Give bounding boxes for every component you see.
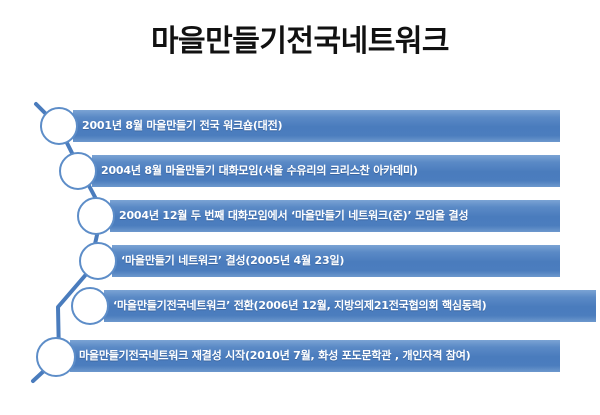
timeline-item-3[interactable]: 2004년 12월 두 번째 대화모임에서 ‘마을만들기 네트워크(준)’ 모임… (0, 200, 600, 232)
timeline-node-3[interactable] (77, 197, 115, 235)
timeline-node-4[interactable] (79, 242, 117, 280)
timeline-item-5[interactable]: ‘마을만들기전국네트워크’ 전환(2006년 12월, 지방의제21전국협의회 … (0, 290, 600, 322)
timeline-node-1[interactable] (40, 107, 78, 145)
timeline-label-6: 마을만들기전국네트워크 재결성 시작(2010년 7월, 화성 포도문학관 , … (79, 340, 470, 372)
timeline-item-2[interactable]: 2004년 8월 마을만들기 대화모임(서울 수유리의 크리스찬 아카데미) (0, 155, 600, 187)
timeline-diagram: 2001년 8월 마을만들기 전국 워크숍(대전) 2004년 8월 마을만들기… (0, 0, 600, 415)
timeline-node-5[interactable] (71, 287, 109, 325)
timeline-item-1[interactable]: 2001년 8월 마을만들기 전국 워크숍(대전) (0, 110, 600, 142)
timeline-label-3: 2004년 12월 두 번째 대화모임에서 ‘마을만들기 네트워크(준)’ 모임… (119, 200, 468, 232)
timeline-node-6[interactable] (36, 337, 76, 377)
timeline-label-4: ‘마을만들기 네트워크’ 결성(2005년 4월 23일) (121, 245, 344, 277)
slide-canvas: 마을만들기전국네트워크 2001년 8월 마을만들기 전국 워크숍(대전) 20… (0, 0, 600, 415)
timeline-label-1: 2001년 8월 마을만들기 전국 워크숍(대전) (82, 110, 282, 142)
timeline-item-4[interactable]: ‘마을만들기 네트워크’ 결성(2005년 4월 23일) (0, 245, 600, 277)
timeline-item-6[interactable]: 마을만들기전국네트워크 재결성 시작(2010년 7월, 화성 포도문학관 , … (0, 340, 600, 372)
timeline-node-2[interactable] (59, 152, 97, 190)
timeline-label-2: 2004년 8월 마을만들기 대화모임(서울 수유리의 크리스찬 아카데미) (101, 155, 418, 187)
timeline-label-5: ‘마을만들기전국네트워크’ 전환(2006년 12월, 지방의제21전국협의회 … (113, 290, 487, 322)
